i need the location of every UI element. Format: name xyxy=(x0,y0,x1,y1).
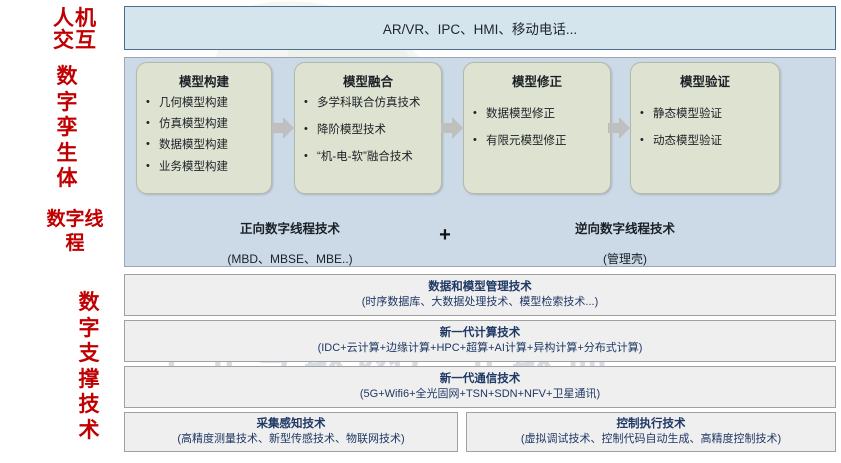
banner-text: AR/VR、IPC、HMI、移动电话... xyxy=(383,18,577,38)
support-row-title: 采集感知技术 xyxy=(257,417,326,431)
list-item: 动态模型验证 xyxy=(631,135,779,148)
support-row-next-gen-communication[interactable]: 新一代通信技术 (5G+Wifi6+全光固网+TSN+SDN+NFV+卫星通讯) xyxy=(124,366,836,408)
support-row-next-gen-computing[interactable]: 新一代计算技术 (IDC+云计算+边缘计算+HPC+超算+AI计算+异构计算+分… xyxy=(124,320,836,362)
stage-item-list: 数据模型修正 有限元模型修正 xyxy=(464,108,610,148)
arrow-right-icon xyxy=(608,116,630,140)
stage-title: 模型构建 xyxy=(137,71,271,90)
stage-box-model-verification[interactable]: 模型验证 静态模型验证 动态模型验证 xyxy=(630,62,780,194)
stage-item-list: 静态模型验证 动态模型验证 xyxy=(631,108,779,148)
support-row-title: 数据和模型管理技术 xyxy=(428,280,532,294)
support-row-title: 控制执行技术 xyxy=(617,417,686,431)
reverse-digital-thread: 逆向数字线程技术 (管理壳) xyxy=(500,218,750,267)
forward-thread-title: 正向数字线程技术 xyxy=(165,218,415,237)
rail-label-human-machine-interaction: 人机交互 xyxy=(44,8,106,52)
support-row-sub: (IDC+云计算+边缘计算+HPC+超算+AI计算+异构计算+分布式计算) xyxy=(318,342,643,356)
stage-box-model-construction[interactable]: 模型构建 几何模型构建 仿真模型构建 数据模型构建 业务模型构建 xyxy=(136,62,272,194)
support-row-sub: (高精度测量技术、新型传感技术、物联网技术) xyxy=(177,433,404,447)
reverse-thread-sub: (管理壳) xyxy=(500,250,750,267)
arrow-right-icon xyxy=(441,116,463,140)
rail-label-digital-twin-body: 数字孪生体 xyxy=(52,64,82,192)
diagram-canvas: 工业互联网产业联盟 Alliance of Industrial Interne… xyxy=(0,0,841,463)
support-row-sub: (时序数据库、大数据处理技术、模型检索技术...) xyxy=(362,296,599,310)
list-item: 有限元模型修正 xyxy=(464,135,610,148)
list-item: 降阶模型技术 xyxy=(295,124,441,137)
support-row-sub: (5G+Wifi6+全光固网+TSN+SDN+NFV+卫星通讯) xyxy=(360,388,600,402)
list-item: 数据模型构建 xyxy=(137,139,271,152)
list-item: “机-电-软”融合技术 xyxy=(295,151,441,164)
rail-label-digital-support-tech: 数字支撑技术 xyxy=(74,290,104,444)
forward-thread-sub: (MBD、MBSE、MBE..) xyxy=(165,250,415,267)
stage-title: 模型融合 xyxy=(295,71,441,90)
list-item: 多学科联合仿真技术 xyxy=(295,97,441,110)
list-item: 业务模型构建 xyxy=(137,161,271,174)
plus-operator: + xyxy=(435,224,455,247)
stage-title: 模型修正 xyxy=(464,71,610,90)
support-row-data-model-management[interactable]: 数据和模型管理技术 (时序数据库、大数据处理技术、模型检索技术...) xyxy=(124,274,836,316)
left-rail: 人机交互 数字孪生体 数字线程 数字支撑技术 xyxy=(0,0,118,463)
stage-item-list: 几何模型构建 仿真模型构建 数据模型构建 业务模型构建 xyxy=(137,97,271,174)
support-row-title: 新一代通信技术 xyxy=(440,372,521,386)
list-item: 数据模型修正 xyxy=(464,108,610,121)
stage-box-model-fusion[interactable]: 模型融合 多学科联合仿真技术 降阶模型技术 “机-电-软”融合技术 xyxy=(294,62,442,194)
list-item: 几何模型构建 xyxy=(137,97,271,110)
support-row-sensing-acquisition[interactable]: 采集感知技术 (高精度测量技术、新型传感技术、物联网技术) xyxy=(124,412,458,452)
support-row-control-execution[interactable]: 控制执行技术 (虚拟调试技术、控制代码自动生成、高精度控制技术) xyxy=(466,412,836,452)
reverse-thread-title: 逆向数字线程技术 xyxy=(500,218,750,237)
support-row-sub: (虚拟调试技术、控制代码自动生成、高精度控制技术) xyxy=(521,433,781,447)
stage-box-model-correction[interactable]: 模型修正 数据模型修正 有限元模型修正 xyxy=(463,62,611,194)
stage-item-list: 多学科联合仿真技术 降阶模型技术 “机-电-软”融合技术 xyxy=(295,97,441,165)
support-row-title: 新一代计算技术 xyxy=(440,326,521,340)
list-item: 仿真模型构建 xyxy=(137,118,271,131)
stage-title: 模型验证 xyxy=(631,71,779,90)
list-item: 静态模型验证 xyxy=(631,108,779,121)
rail-label-digital-thread: 数字线程 xyxy=(46,208,104,256)
forward-digital-thread: 正向数字线程技术 (MBD、MBSE、MBE..) xyxy=(165,218,415,267)
human-machine-interaction-banner: AR/VR、IPC、HMI、移动电话... xyxy=(124,6,836,50)
arrow-right-icon xyxy=(272,116,294,140)
